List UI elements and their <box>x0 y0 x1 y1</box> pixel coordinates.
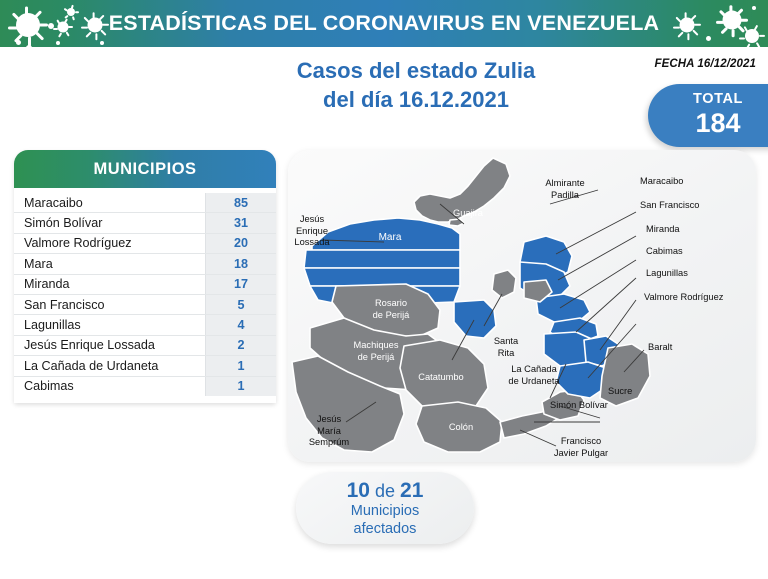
table-row: Jesús Enrique Lossada 2 <box>14 336 276 356</box>
map-label-rosario-de-perija: Rosario de Perijá <box>356 298 426 321</box>
map-label-colon: Colón <box>436 422 486 434</box>
map-label-mara: Mara <box>360 232 420 244</box>
municipio-value: 18 <box>205 254 276 273</box>
map-callout-san-francisco: San Francisco <box>640 200 699 212</box>
table-row: La Cañada de Urdaneta 1 <box>14 356 276 376</box>
municipio-name: Miranda <box>14 277 205 291</box>
map-label-rosario-line1: Rosario <box>375 298 407 308</box>
table-row: San Francisco 5 <box>14 295 276 315</box>
municipio-name: Cabimas <box>14 379 205 393</box>
municipio-name: La Cañada de Urdaneta <box>14 359 205 373</box>
table-row: Maracaibo 85 <box>14 193 276 213</box>
table-row: Lagunillas 4 <box>14 315 276 335</box>
total-badge: TOTAL 184 <box>648 84 768 147</box>
map-label-machiques-de-perija: Machiques de Perijá <box>336 340 416 363</box>
municipio-name: Jesús Enrique Lossada <box>14 338 205 352</box>
callout-jel-line3: Lossada <box>294 237 329 247</box>
map-callout-sucre: Sucre <box>608 386 632 398</box>
municipio-name: Simón Bolívar <box>14 216 205 230</box>
map-callout-jesus-enrique-lossada: Jesús Enrique Lossada <box>288 214 340 249</box>
table-row: Mara 18 <box>14 254 276 274</box>
afectados-total: 21 <box>400 479 423 502</box>
municipio-value: 31 <box>205 213 276 232</box>
map-label-guajira: Guajira <box>438 208 498 220</box>
municipio-value: 2 <box>205 336 276 355</box>
map-callout-francisco-javier-pulgar: Francisco Javier Pulgar <box>534 436 628 459</box>
zulia-map-panel: Guajira Mara Rosario de Perijá Machiques… <box>288 150 756 462</box>
municipio-name: Mara <box>14 257 205 271</box>
callout-santarita-line1: Santa <box>494 336 518 346</box>
municipio-value: 1 <box>205 356 276 375</box>
total-value: 184 <box>695 108 740 138</box>
municipio-name: Lagunillas <box>14 318 205 332</box>
afectados-line3: afectados <box>354 521 417 538</box>
municipio-value: 1 <box>205 377 276 396</box>
municipio-value: 4 <box>205 315 276 334</box>
callout-canada-line2: de Urdaneta <box>508 376 559 386</box>
municipio-value: 85 <box>205 193 276 212</box>
date-label: FECHA 16/12/2021 <box>654 58 756 70</box>
map-label-catatumbo: Catatumbo <box>406 372 476 384</box>
callout-santarita-line2: Rita <box>498 348 515 358</box>
table-row: Valmore Rodríguez 20 <box>14 234 276 254</box>
map-callout-cabimas: Cabimas <box>646 246 683 258</box>
municipios-table-header: MUNICIPIOS <box>14 150 276 188</box>
municipio-name: San Francisco <box>14 298 205 312</box>
map-callout-jesus-maria-semprum: Jesús María Semprúm <box>294 414 364 449</box>
callout-canada-line1: La Cañada <box>511 364 557 374</box>
municipios-table-body: Maracaibo 85 Simón Bolívar 31 Valmore Ro… <box>14 188 276 403</box>
callout-jms-line2: María <box>317 426 341 436</box>
map-callout-santa-rita: Santa Rita <box>484 336 528 359</box>
municipios-table: MUNICIPIOS Maracaibo 85 Simón Bolívar 31… <box>14 150 276 403</box>
map-callout-lagunillas: Lagunillas <box>646 268 688 280</box>
map-label-machiques-line1: Machiques <box>354 340 399 350</box>
callout-jel-line2: Enrique <box>296 226 328 236</box>
callout-almirante-line1: Almirante <box>545 178 584 188</box>
afectados-count: 10 <box>347 479 370 502</box>
infographic-root: ESTADÍSTICAS DEL CORONAVIRUS EN VENEZUEL… <box>0 0 768 579</box>
afectados-de: de <box>370 481 400 501</box>
map-callout-la-canada-de-urdaneta: La Cañada de Urdaneta <box>496 364 572 387</box>
callout-jel-line1: Jesús <box>300 214 324 224</box>
callout-jms-line1: Jesús <box>317 414 341 424</box>
municipio-name: Valmore Rodríguez <box>14 236 205 250</box>
page-title-line2: del día 16.12.2021 <box>236 85 596 114</box>
municipios-afectados-badge: 10 de 21 Municipios afectados <box>296 472 474 544</box>
callout-fjp-line1: Francisco <box>561 436 601 446</box>
municipio-name: Maracaibo <box>14 196 205 210</box>
total-label: TOTAL <box>693 92 743 108</box>
callout-almirante-line2: Padilla <box>551 190 579 200</box>
table-row: Cabimas 1 <box>14 377 276 396</box>
map-callout-simon-bolivar: Simón Bolívar <box>550 400 608 412</box>
page-title: Casos del estado Zulia del día 16.12.202… <box>236 56 596 115</box>
map-callout-miranda: Miranda <box>646 224 680 236</box>
map-label-machiques-line2: de Perijá <box>358 352 395 362</box>
map-label-rosario-line2: de Perijá <box>373 310 410 320</box>
municipio-value: 5 <box>205 295 276 314</box>
municipio-value: 17 <box>205 275 276 294</box>
municipio-value: 20 <box>205 234 276 253</box>
map-callout-maracaibo: Maracaibo <box>640 176 683 188</box>
table-row: Miranda 17 <box>14 275 276 295</box>
map-callout-almirante-padilla: Almirante Padilla <box>528 178 602 201</box>
header-banner: ESTADÍSTICAS DEL CORONAVIRUS EN VENEZUEL… <box>0 0 768 47</box>
banner-title: ESTADÍSTICAS DEL CORONAVIRUS EN VENEZUEL… <box>0 0 768 47</box>
map-callout-baralt: Baralt <box>648 342 672 354</box>
afectados-ratio: 10 de 21 <box>347 478 424 503</box>
callout-fjp-line2: Javier Pulgar <box>554 448 608 458</box>
table-row: Simón Bolívar 31 <box>14 213 276 233</box>
page-title-line1: Casos del estado Zulia <box>236 56 596 85</box>
map-callout-valmore-rodriguez: Valmore Rodríguez <box>644 292 723 304</box>
callout-jms-line3: Semprúm <box>309 437 349 447</box>
afectados-line2: Municipios <box>351 503 420 520</box>
